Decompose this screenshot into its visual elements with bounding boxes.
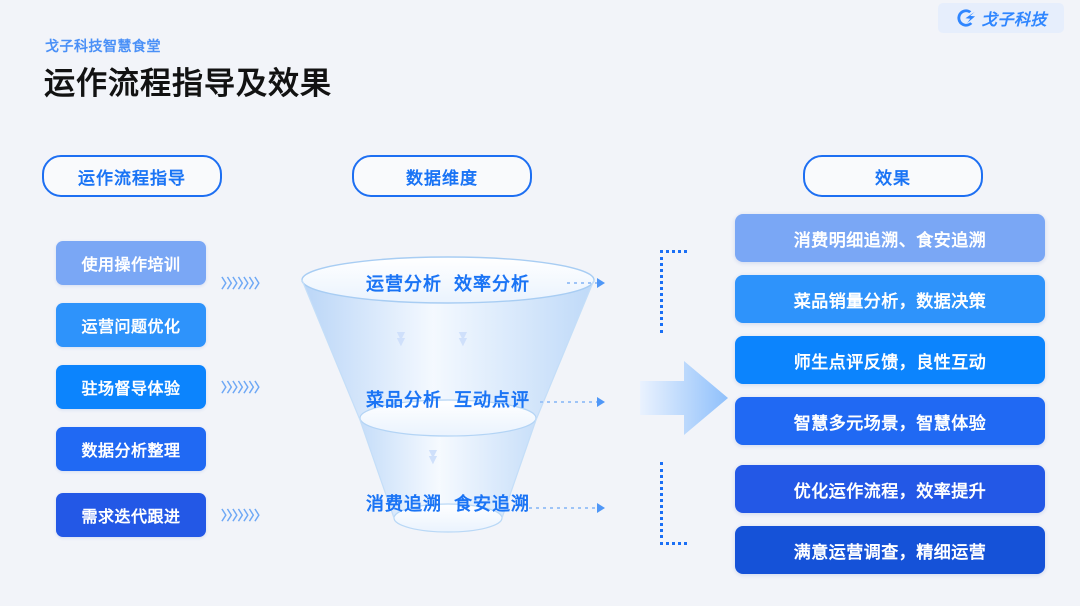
funnel-connector-arrow-icon [597,278,605,288]
funnel-down-arrow-icon: ▼▼ [426,450,440,462]
funnel-connector-line [567,282,599,284]
chevron-trail-icon: 〉〉〉〉〉〉〉 [221,377,266,396]
brand-logo-text: 戈子科技 [981,6,1047,30]
funnel-down-arrow-icon: ▼▼ [456,332,470,344]
outcome-label: 消费明细追溯、食安追溯 [794,226,987,251]
outcome-box[interactable]: 智慧多元场景，智慧体验 [735,397,1045,445]
process-step-box[interactable]: 需求迭代跟进 [56,493,206,537]
funnel-connector-line [529,507,598,509]
funnel-level-label: 运营分析 效率分析 [288,270,608,296]
column-header-effect: 效果 [803,155,983,197]
funnel-level-label: 消费追溯 食安追溯 [288,490,608,516]
outcome-label: 师生点评反馈，良性互动 [794,348,987,373]
column-header-process: 运作流程指导 [42,155,222,197]
outcome-label: 满意运营调查，精细运营 [794,538,987,563]
outcome-label: 智慧多元场景，智慧体验 [794,409,987,434]
outcome-box[interactable]: 满意运营调查，精细运营 [735,526,1045,574]
outcome-label: 菜品销量分析，数据决策 [794,287,987,312]
dotted-bracket-top [660,250,687,333]
process-step-label: 运营问题优化 [81,313,180,337]
outcome-box[interactable]: 消费明细追溯、食安追溯 [735,214,1045,262]
process-step-box[interactable]: 使用操作培训 [56,241,206,285]
outcome-box[interactable]: 师生点评反馈，良性互动 [735,336,1045,384]
process-step-label: 使用操作培训 [81,251,180,275]
circular-swoosh-icon [955,7,977,29]
column-header-data: 数据维度 [352,155,532,197]
dotted-bracket-bottom [660,462,687,545]
funnel-down-arrow-icon: ▼▼ [394,332,408,344]
process-step-box[interactable]: 运营问题优化 [56,303,206,347]
process-step-box[interactable]: 驻场督导体验 [56,365,206,409]
chevron-trail-icon: 〉〉〉〉〉〉〉 [221,273,266,292]
outcome-box[interactable]: 菜品销量分析，数据决策 [735,275,1045,323]
data-funnel: 运营分析 效率分析 菜品分析 互动点评 消费追溯 食安追溯 ▼▼ ▼▼ ▼▼ [288,250,608,550]
brand-logo-badge: 戈子科技 [938,3,1064,33]
process-step-label: 驻场督导体验 [81,375,180,399]
funnel-level-label: 菜品分析 互动点评 [288,386,608,412]
process-step-label: 需求迭代跟进 [81,503,180,527]
chevron-trail-icon: 〉〉〉〉〉〉〉 [221,505,266,524]
outcome-box[interactable]: 优化运作流程，效率提升 [735,465,1045,513]
funnel-connector-line [540,401,598,403]
slide-canvas: 戈子科技 戈子科技智慧食堂 运作流程指导及效果 运作流程指导 数据维度 效果 使… [0,0,1080,606]
process-step-box[interactable]: 数据分析整理 [56,427,206,471]
big-arrow-icon [638,355,730,441]
page-title: 运作流程指导及效果 [44,58,332,103]
outcome-label: 优化运作流程，效率提升 [794,477,987,502]
slide-eyebrow: 戈子科技智慧食堂 [45,36,161,56]
funnel-connector-arrow-icon [597,503,605,513]
funnel-connector-arrow-icon [597,397,605,407]
process-step-label: 数据分析整理 [81,437,180,461]
